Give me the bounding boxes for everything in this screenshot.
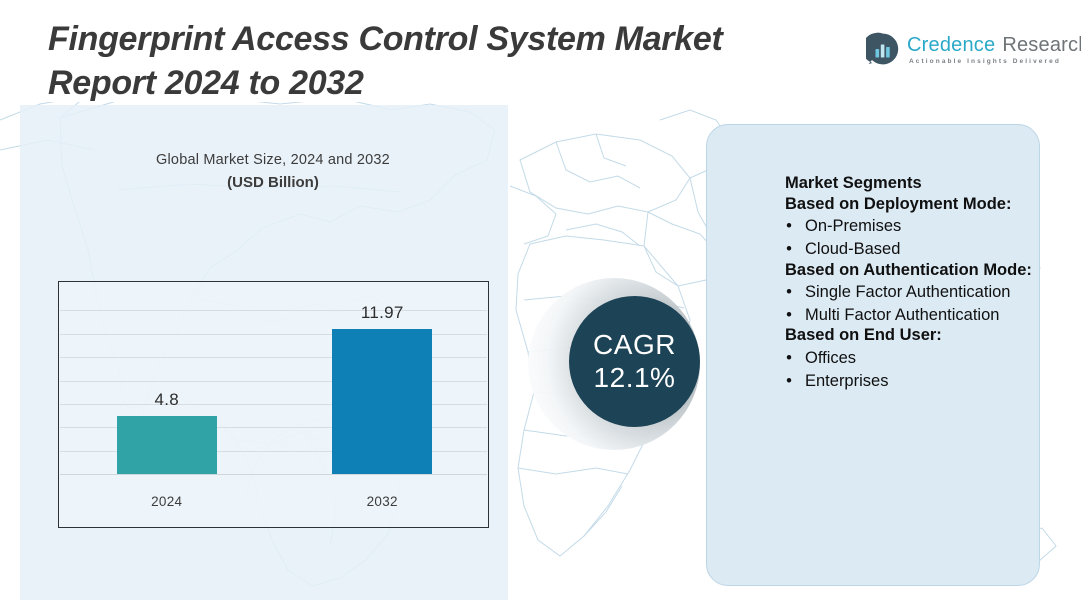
- bar-chart: 4.8202411.972032: [58, 281, 489, 528]
- segment-group-heading: Based on Deployment Mode:: [785, 194, 1035, 215]
- bar-chart-circle-logo-icon: [866, 32, 900, 66]
- segment-item-label: Cloud-Based: [805, 239, 1035, 260]
- brand-logo[interactable]: Credence Research Actionable Insights De…: [866, 32, 1081, 66]
- chart-bar-value-label: 4.8: [107, 390, 227, 410]
- segment-item-label: On-Premises: [805, 216, 1035, 237]
- segment-list-item: •Enterprises: [785, 371, 1035, 392]
- segment-item-label: Offices: [805, 348, 1035, 369]
- segment-list-item: •Cloud-Based: [785, 239, 1035, 260]
- bullet-icon: •: [785, 239, 793, 260]
- segment-group-heading: Based on End User:: [785, 325, 1035, 346]
- cagr-label: CAGR: [593, 330, 676, 360]
- brand-name-secondary: Research: [1002, 34, 1081, 57]
- segment-list-item: •Multi Factor Authentication: [785, 305, 1035, 326]
- bullet-icon: •: [785, 216, 793, 237]
- segment-item-label: Multi Factor Authentication: [805, 305, 1035, 326]
- segment-list-item: •Single Factor Authentication: [785, 282, 1035, 303]
- market-segments-list: Market SegmentsBased on Deployment Mode:…: [785, 173, 1035, 391]
- segment-list-item: •Offices: [785, 348, 1035, 369]
- chart-category-label: 2032: [322, 494, 442, 509]
- chart-heading: Global Market Size, 2024 and 2032 (USD B…: [58, 152, 488, 191]
- chart-category-label: 2024: [107, 494, 227, 509]
- chart-title: Global Market Size, 2024 and 2032: [58, 152, 488, 168]
- page-title: Fingerprint Access Control System Market…: [48, 18, 838, 105]
- bullet-icon: •: [785, 348, 793, 369]
- segment-item-label: Single Factor Authentication: [805, 282, 1035, 303]
- bullet-icon: •: [785, 282, 793, 303]
- segment-item-label: Enterprises: [805, 371, 1035, 392]
- brand-tagline: Actionable Insights Delivered: [909, 58, 1081, 65]
- chart-plot-area: 4.8202411.972032: [59, 282, 488, 527]
- infographic-canvas: Fingerprint Access Control System Market…: [0, 0, 1081, 600]
- brand-name-primary: Credence: [907, 34, 995, 57]
- chart-bar: [117, 416, 217, 475]
- cagr-circle: CAGR 12.1%: [569, 296, 700, 427]
- segment-list-item: •On-Premises: [785, 216, 1035, 237]
- bullet-icon: •: [785, 371, 793, 392]
- chart-subtitle: (USD Billion): [58, 174, 488, 191]
- chart-bar: [332, 329, 432, 475]
- brand-logo-text: Credence Research Actionable Insights De…: [907, 34, 1081, 65]
- chart-bar-value-label: 11.97: [322, 303, 442, 323]
- segment-group-heading: Based on Authentication Mode:: [785, 260, 1035, 281]
- cagr-value: 12.1%: [594, 363, 676, 393]
- bullet-icon: •: [785, 305, 793, 326]
- market-segments-panel: Market SegmentsBased on Deployment Mode:…: [706, 124, 1040, 586]
- chart-baseline: [60, 474, 487, 475]
- segments-main-heading: Market Segments: [785, 173, 1035, 194]
- cagr-badge: CAGR 12.1%: [528, 276, 708, 454]
